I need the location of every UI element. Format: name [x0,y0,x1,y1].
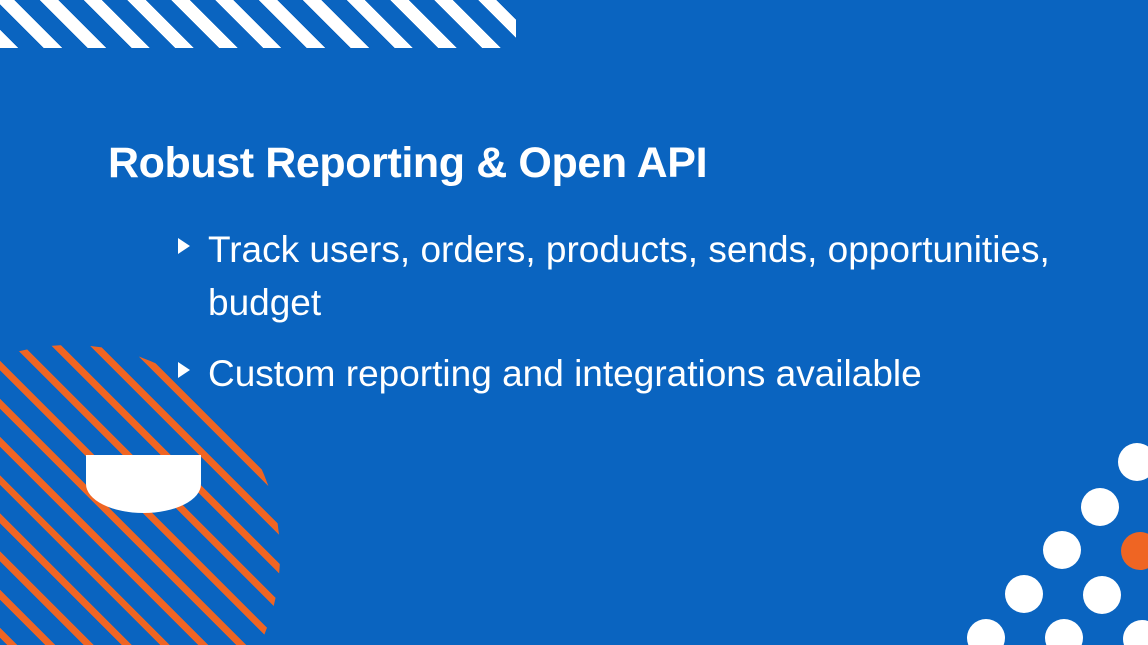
list-item: Track users, orders, products, sends, op… [176,224,1096,329]
bullet-list: Track users, orders, products, sends, op… [176,224,1096,420]
triangle-right-icon [176,361,194,379]
presentation-slide: Robust Reporting & Open API Track users,… [0,0,1148,645]
slide-content: Robust Reporting & Open API Track users,… [0,0,1148,645]
triangle-right-icon [176,237,194,255]
list-item-label: Track users, orders, products, sends, op… [208,224,1096,329]
list-item-label: Custom reporting and integrations availa… [208,348,1096,401]
list-item: Custom reporting and integrations availa… [176,348,1096,401]
page-title: Robust Reporting & Open API [108,140,707,187]
